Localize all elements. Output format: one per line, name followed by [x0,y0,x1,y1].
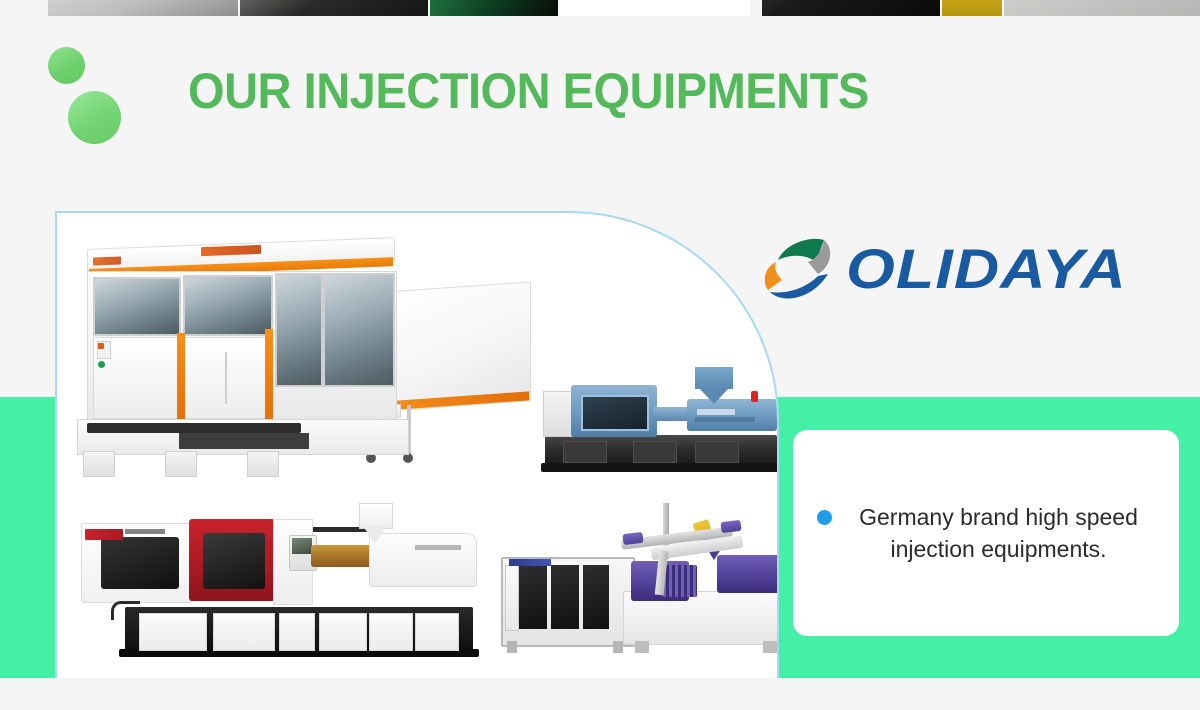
feature-callout-text: Germany brand high speed injection equip… [844,501,1153,565]
page-root: OUR INJECTION EQUIPMENTS [0,0,1200,710]
bullet-icon [817,510,832,525]
olidaya-swirl-icon [760,234,842,306]
feature-callout-card: Germany brand high speed injection equip… [793,430,1179,636]
gallery-outline-frame [55,211,779,678]
strip-photo-1 [48,0,238,16]
strip-photo-3 [430,0,558,16]
strip-photo-2 [240,0,428,16]
brand-name: OLIDAYA [846,240,1127,298]
strip-photo-6 [942,0,1002,16]
top-photo-strip [0,0,1200,16]
strip-photo-5 [762,0,940,16]
green-dot-large-icon [68,91,121,144]
brand-logo: OLIDAYA [760,234,1190,310]
green-dot-small-icon [48,47,85,84]
strip-photo-4 [560,0,750,16]
page-title: OUR INJECTION EQUIPMENTS [188,62,869,120]
strip-photo-7 [1004,0,1200,16]
